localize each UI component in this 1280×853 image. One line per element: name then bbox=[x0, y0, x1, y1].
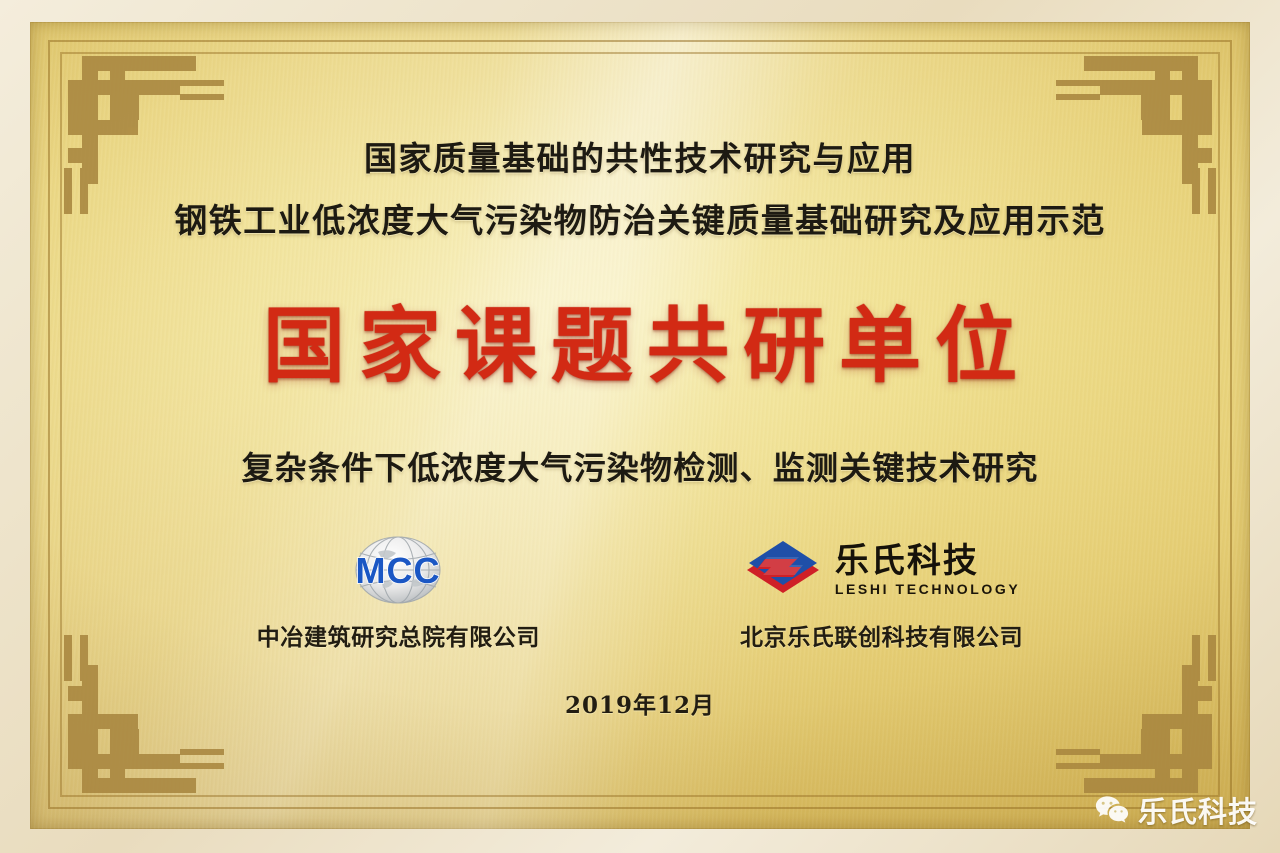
award-main-title: 国家课题共研单位 bbox=[249, 298, 1031, 394]
organization-mcc: MCC 中冶建筑研究总院有限公司 bbox=[257, 534, 540, 652]
leshi-diamond-logo-icon bbox=[743, 537, 823, 603]
mcc-logo: MCC bbox=[320, 534, 476, 606]
leshi-logo: 乐氏科技 LESHI TECHNOLOGY bbox=[743, 534, 1021, 606]
award-date: 2019年12月 bbox=[565, 686, 715, 720]
mcc-globe-logo-icon: MCC bbox=[320, 536, 476, 604]
program-line-2: 钢铁工业低浓度大气污染物防治关键质量基础研究及应用示范 bbox=[174, 198, 1106, 244]
program-line-1: 国家质量基础的共性技术研究与应用 bbox=[174, 136, 1106, 182]
wechat-icon bbox=[1095, 795, 1129, 825]
wechat-watermark: 乐氏科技 bbox=[1095, 789, 1258, 831]
watermark-label: 乐氏科技 bbox=[1138, 789, 1258, 831]
organization-leshi: 乐氏科技 LESHI TECHNOLOGY 北京乐氏联创科技有限公司 bbox=[740, 534, 1023, 652]
organization-name-leshi: 北京乐氏联创科技有限公司 bbox=[740, 618, 1023, 652]
organization-name-mcc: 中冶建筑研究总院有限公司 bbox=[257, 618, 540, 652]
svg-text:MCC: MCC bbox=[356, 550, 441, 591]
award-plaque: 国家质量基础的共性技术研究与应用 钢铁工业低浓度大气污染物防治关键质量基础研究及… bbox=[0, 0, 1280, 853]
leshi-logo-text-en: LESHI TECHNOLOGY bbox=[835, 581, 1021, 597]
leshi-logo-text-cn: 乐氏科技 bbox=[835, 543, 979, 579]
program-heading: 国家质量基础的共性技术研究与应用 钢铁工业低浓度大气污染物防治关键质量基础研究及… bbox=[174, 136, 1106, 244]
issuing-organizations: MCC 中冶建筑研究总院有限公司 bbox=[0, 534, 1280, 652]
award-subtitle: 复杂条件下低浓度大气污染物检测、监测关键技术研究 bbox=[242, 446, 1039, 490]
plaque-content: 国家质量基础的共性技术研究与应用 钢铁工业低浓度大气污染物防治关键质量基础研究及… bbox=[0, 0, 1280, 853]
